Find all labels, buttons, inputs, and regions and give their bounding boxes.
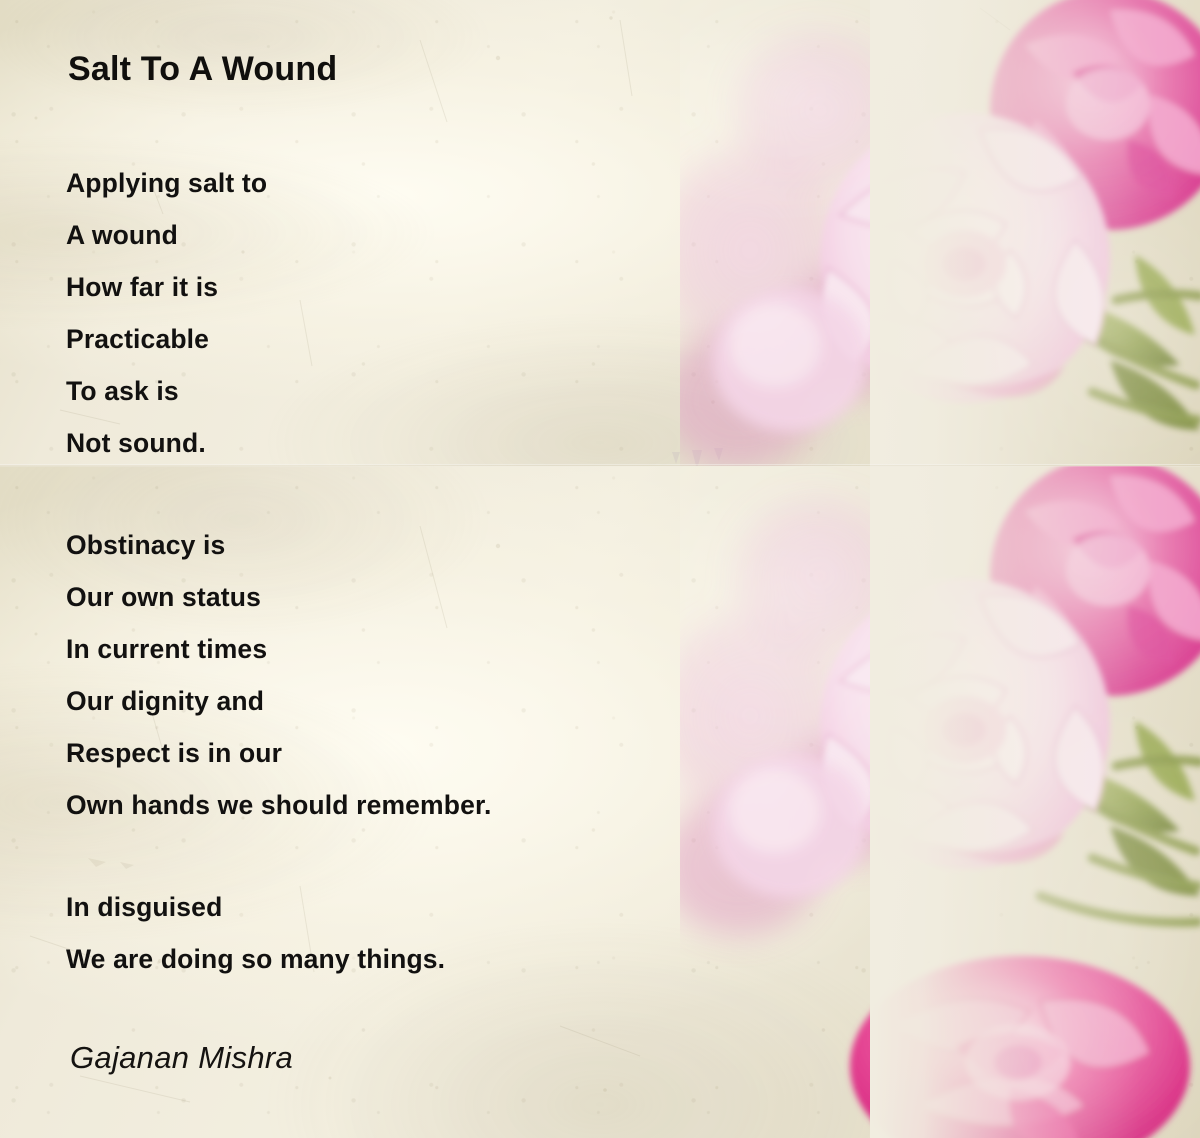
poem-line: A wound [66, 209, 267, 261]
poem-stanza-2: Obstinacy is Our own status In current t… [66, 519, 492, 831]
poem-line: Obstinacy is [66, 519, 492, 571]
poem-line: How far it is [66, 261, 267, 313]
poem-stanza-1: Applying salt to A wound How far it is P… [66, 157, 267, 469]
poem-line: We are doing so many things. [66, 933, 445, 985]
poem-line: Our dignity and [66, 675, 492, 727]
poem-line: Our own status [66, 571, 492, 623]
poem-line: In current times [66, 623, 492, 675]
poem-stanza-3: In disguised We are doing so many things… [66, 881, 445, 985]
poem-line: Respect is in our [66, 727, 492, 779]
poem-image: Salt To A Wound Applying salt to A wound… [0, 0, 1200, 1138]
poem-line: In disguised [66, 881, 445, 933]
poem-line: To ask is [66, 365, 267, 417]
poem-line: Own hands we should remember. [66, 779, 492, 831]
poem-title: Salt To A Wound [68, 50, 337, 89]
poem-line: Applying salt to [66, 157, 267, 209]
poem-text-layer: Salt To A Wound Applying salt to A wound… [0, 0, 1200, 1138]
poem-author-signature: Gajanan Mishra [70, 1040, 293, 1076]
poem-line: Practicable [66, 313, 267, 365]
poem-line: Not sound. [66, 417, 267, 469]
